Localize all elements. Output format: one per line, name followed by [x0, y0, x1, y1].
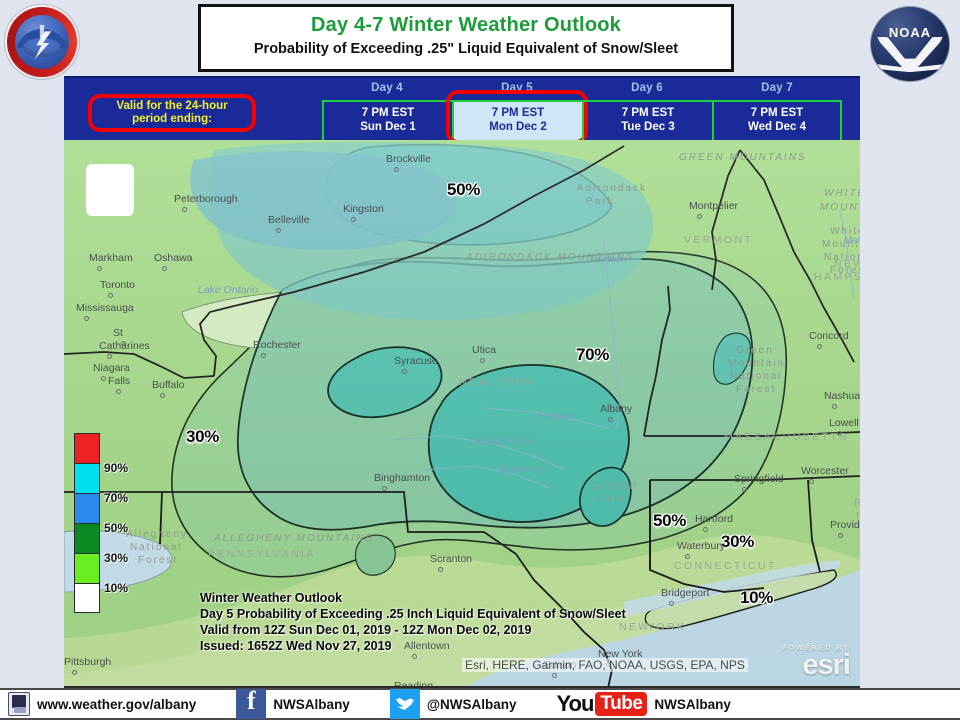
facebook-icon: [236, 689, 266, 719]
city-label: Worcester: [801, 465, 849, 477]
state-label: VERMONT: [684, 234, 753, 246]
colorbar-tick-label: 50%: [104, 521, 128, 535]
youtube-icon: You Tube: [557, 691, 648, 717]
tab-day-5[interactable]: Day 57 PM ESTMon Dec 2: [452, 82, 582, 140]
map-caption-line: Issued: 1652Z Wed Nov 27, 2019: [200, 638, 626, 654]
noaa-logo-icon: NOAA: [870, 6, 950, 82]
river-label: Delaware: [499, 464, 539, 475]
map-caption-block: Winter Weather OutlookDay 5 Probability …: [200, 590, 626, 654]
city-label: Binghamton: [374, 472, 430, 484]
contour-label: 50%: [447, 180, 480, 200]
city-label: Brockville: [386, 153, 431, 165]
tab-date-label: Mon Dec 2: [489, 121, 547, 135]
region-label: National: [730, 371, 783, 382]
city-marker-icon: [261, 353, 266, 358]
region-label: Forest: [736, 384, 776, 395]
valid-period-callout: Valid for the 24-hour period ending:: [88, 94, 256, 132]
city-marker-icon: [608, 417, 613, 422]
map-caption-line: Winter Weather Outlook: [200, 590, 626, 606]
footer-twitter-label: @NWSAlbany: [427, 697, 517, 712]
city-marker-icon: [116, 389, 121, 394]
city-marker-icon: [276, 228, 281, 233]
region-label: Catskill: [590, 481, 638, 492]
social-footer: www.weather.gov/albany NWSAlbany @NWSAlb…: [0, 688, 960, 720]
region-label: Green: [736, 345, 774, 356]
state-label: HAMPSHIRE: [814, 271, 860, 283]
colorbar-tick-label: 70%: [104, 491, 128, 505]
map-caption-line: Valid from 12Z Sun Dec 01, 2019 - 12Z Mo…: [200, 622, 626, 638]
city-marker-icon: [669, 601, 674, 606]
city-marker-icon: [685, 554, 690, 559]
footer-facebook-label: NWSAlbany: [273, 697, 350, 712]
esri-wordmark: esri: [782, 652, 850, 678]
footer-website-label: www.weather.gov/albany: [37, 697, 196, 712]
outlook-control-panel: Valid for the 24-hour period ending: Day…: [64, 76, 860, 140]
contour-label: 30%: [186, 427, 219, 447]
region-label: ALLEGHENY MOUNTAINS: [214, 533, 374, 544]
region-label: GREEN MOUNTAINS: [679, 152, 807, 163]
city-label: Buffalo: [152, 379, 185, 391]
city-label: Belleville: [268, 214, 309, 226]
city-marker-icon: [182, 207, 187, 212]
water-body-label: Lake Ontario: [198, 284, 258, 296]
city-label: Rochester: [253, 339, 301, 351]
city-marker-icon: [97, 266, 102, 271]
blank-overlay-box: [86, 164, 134, 216]
city-marker-icon: [101, 376, 106, 381]
city-label: Markham: [89, 252, 133, 264]
probability-colorbar: [74, 433, 100, 613]
city-marker-icon: [402, 369, 407, 374]
city-marker-icon: [697, 214, 702, 219]
city-label: Peterborough: [174, 193, 238, 205]
title-card: Day 4-7 Winter Weather Outlook Probabili…: [198, 4, 734, 72]
state-label: PENNSYLVANIA: [208, 548, 316, 560]
tab-day-4[interactable]: Day 47 PM ESTSun Dec 1: [322, 82, 452, 140]
screenshot-root: NOAA Day 4-7 Winter Weather Outlook Prob…: [0, 0, 960, 720]
colorbar-tick-label: 90%: [104, 461, 128, 475]
weather-map[interactable]: 50%70%30%50%30%10% BrockvillePeterboroug…: [64, 140, 860, 688]
state-label: NEW YORK: [459, 376, 535, 388]
city-label: Concord: [809, 330, 849, 342]
city-label: Montpelier: [689, 200, 738, 212]
contour-label: 70%: [576, 345, 609, 365]
esri-attribution: Esri, HERE, Garmin, FAO, NOAA, USGS, EPA…: [462, 658, 748, 672]
valid-period-line1: Valid for the 24-hour: [116, 100, 227, 113]
tab-day-label: Day 4: [322, 82, 452, 100]
tab-day-label: Day 7: [712, 82, 842, 100]
nws-logo-icon: [4, 4, 80, 80]
colorbar-swatch: [74, 493, 100, 523]
city-marker-icon: [107, 354, 112, 359]
city-marker-icon: [480, 358, 485, 363]
city-label: St: [113, 327, 123, 339]
tab-day-6[interactable]: Day 67 PM ESTTue Dec 3: [582, 82, 712, 140]
city-label: Albany: [600, 403, 632, 415]
city-marker-icon: [351, 217, 356, 222]
state-label: MASSACHUSETTS: [724, 431, 849, 443]
map-caption-line: Day 5 Probability of Exceeding .25 Inch …: [200, 606, 626, 622]
city-marker-icon: [809, 479, 814, 484]
city-label: Waterbury: [677, 540, 725, 552]
region-label: MOUNTA: [820, 202, 860, 213]
city-marker-icon: [162, 266, 167, 271]
river-label: Susquehanna: [474, 436, 533, 447]
city-label: Nashua: [824, 390, 860, 402]
state-label: CONNECTICUT: [674, 560, 777, 572]
footer-youtube[interactable]: You Tube NWSAlbany: [517, 688, 731, 720]
city-label: Niagara: [93, 362, 130, 374]
city-marker-icon: [832, 404, 837, 409]
colorbar-swatch: [74, 583, 100, 613]
city-label: Springfield: [734, 473, 784, 485]
city-label: Catharines: [99, 340, 150, 352]
city-label: Pittsburgh: [64, 656, 111, 668]
contour-label: 30%: [721, 532, 754, 552]
colorbar-swatch: [74, 433, 100, 463]
city-label: Bridgeport: [661, 587, 709, 599]
page-title: Day 4-7 Winter Weather Outlook: [201, 14, 731, 37]
city-marker-icon: [817, 344, 822, 349]
city-label: Kingston: [343, 203, 384, 215]
contour-label: 50%: [653, 511, 686, 531]
city-marker-icon: [742, 487, 747, 492]
city-label: Utica: [472, 344, 496, 356]
contour-label: 10%: [740, 588, 773, 608]
esri-logo: POWERED BY esri: [782, 645, 850, 678]
footer-facebook[interactable]: NWSAlbany: [196, 688, 350, 720]
footer-youtube-label: NWSAlbany: [654, 697, 731, 712]
city-label: Mississauga: [76, 302, 134, 314]
tab-time-label: 7 PM EST: [751, 107, 803, 121]
city-label: Scranton: [430, 553, 472, 565]
city-marker-icon: [838, 533, 843, 538]
valid-period-line2: period ending:: [132, 113, 212, 126]
city-marker-icon: [72, 670, 77, 675]
region-label: Mountain: [728, 358, 785, 369]
city-marker-icon: [703, 527, 708, 532]
website-icon: [8, 692, 30, 716]
colorbar-swatch: [74, 463, 100, 493]
tab-time-label: 7 PM EST: [362, 107, 414, 121]
city-marker-icon: [160, 393, 165, 398]
colorbar-swatch: [74, 523, 100, 553]
city-label: Lowell: [829, 417, 859, 429]
colorbar-swatch: [74, 553, 100, 583]
city-label: Falls: [108, 375, 130, 387]
youtube-tube-text: Tube: [595, 692, 647, 716]
tab-day-label: Day 6: [582, 82, 712, 100]
city-marker-icon: [84, 316, 89, 321]
city-label: Oshawa: [154, 252, 193, 264]
city-marker-icon: [382, 486, 387, 491]
tab-day-7[interactable]: Day 77 PM ESTWed Dec 4: [712, 82, 842, 140]
region-label: Park: [586, 196, 615, 207]
river-label: Hudson: [594, 254, 627, 265]
footer-twitter[interactable]: @NWSAlbany: [350, 688, 517, 720]
tab-day-label: Day 5: [452, 82, 582, 100]
youtube-you-text: You: [557, 691, 594, 717]
region-label: Park: [598, 494, 627, 505]
tab-time-label: 7 PM EST: [492, 107, 544, 121]
region-label: Adirondack: [577, 183, 647, 194]
twitter-icon: [390, 689, 420, 719]
city-label: Toronto: [100, 279, 135, 291]
city-label: Syracuse: [394, 355, 438, 367]
state-label: NEW: [834, 258, 860, 270]
tab-time-label: 7 PM EST: [622, 107, 674, 121]
tab-date-label: Tue Dec 3: [621, 121, 674, 135]
tab-date-label: Wed Dec 4: [748, 121, 806, 135]
river-label: Mohawk: [539, 411, 574, 422]
city-marker-icon: [412, 654, 417, 659]
city-marker-icon: [552, 673, 557, 678]
river-label: Merrimack: [844, 235, 860, 246]
state-label: ISLAND: [856, 510, 860, 522]
city-marker-icon: [438, 567, 443, 572]
city-marker-icon: [394, 167, 399, 172]
city-label: Hartford: [695, 513, 733, 525]
state-label: RHODE: [854, 497, 860, 509]
state-label: YORK: [647, 621, 686, 633]
probability-colorbar-labels: 90%70%50%30%10%: [104, 433, 164, 613]
footer-website[interactable]: www.weather.gov/albany: [0, 688, 196, 720]
day-tab-strip: Day 47 PM ESTSun Dec 1Day 57 PM ESTMon D…: [322, 82, 842, 140]
page-subtitle: Probability of Exceeding .25" Liquid Equ…: [201, 41, 731, 57]
colorbar-tick-label: 10%: [104, 581, 128, 595]
tab-date-label: Sun Dec 1: [360, 121, 416, 135]
colorbar-tick-label: 30%: [104, 551, 128, 565]
region-label: WHITE: [824, 188, 860, 199]
city-marker-icon: [108, 293, 113, 298]
